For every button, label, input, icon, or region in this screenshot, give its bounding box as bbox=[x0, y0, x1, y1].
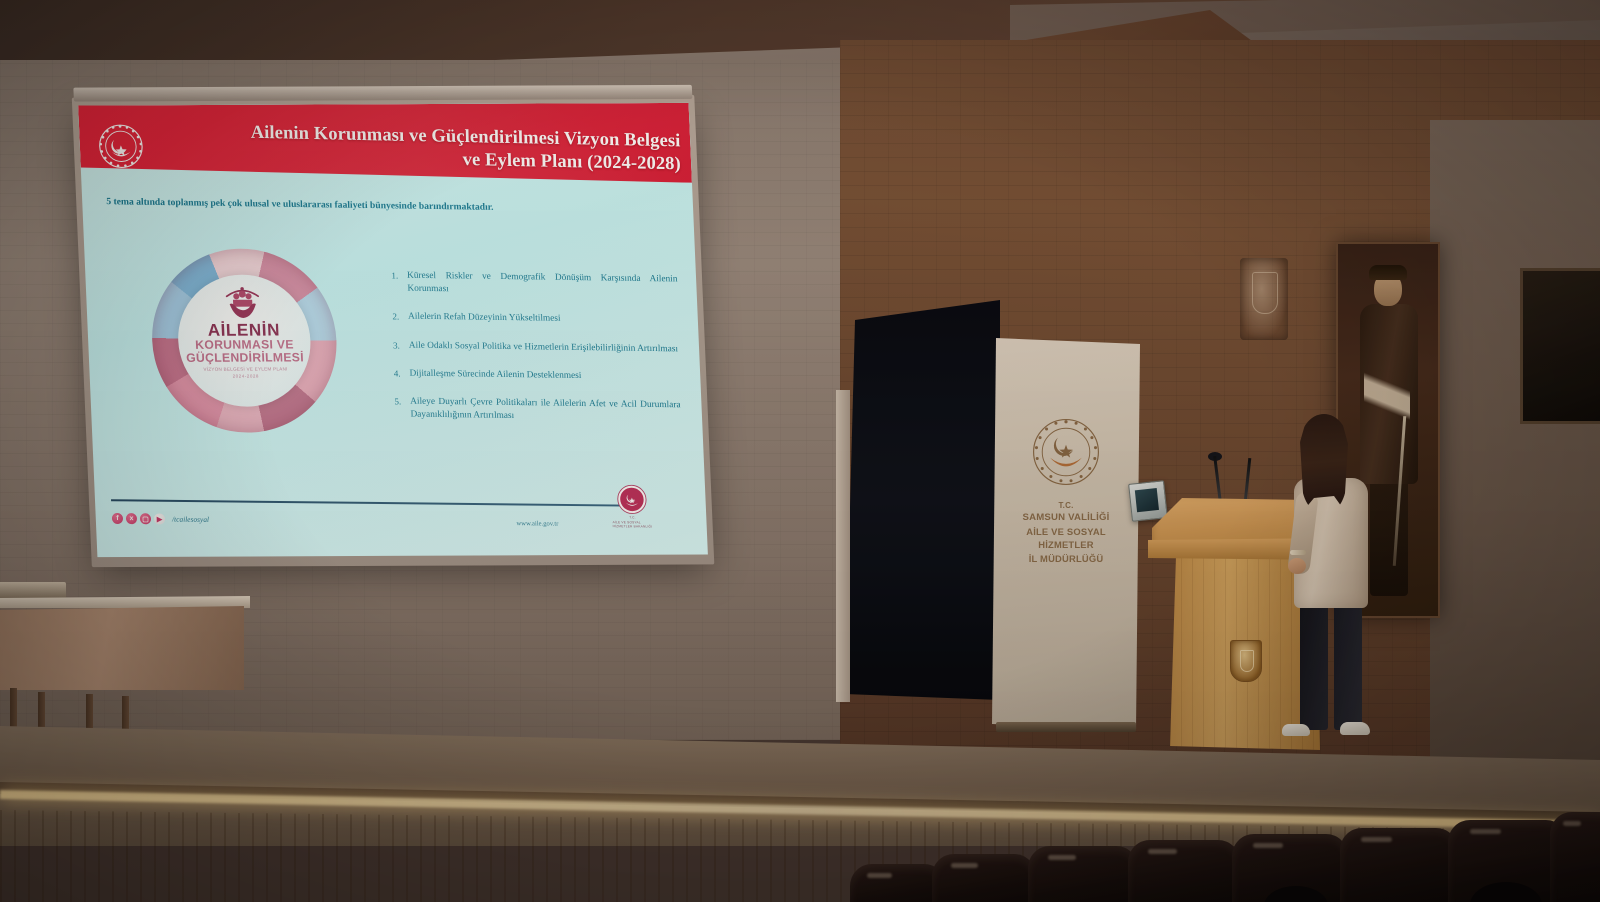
list-item-label: Dijitalleşme Sürecinde Ailenin Desteklen… bbox=[409, 367, 680, 384]
x-twitter-icon: x bbox=[126, 513, 137, 524]
logo-line-5: 2024-2028 bbox=[232, 373, 259, 378]
list-item: 1. Küresel Riskler ve Demografik Dönüşüm… bbox=[387, 269, 678, 299]
social-links: f x ▢ ▶ /tcailesosyal bbox=[112, 513, 209, 525]
list-item-number: 3. bbox=[389, 339, 400, 352]
turkish-state-emblem-icon bbox=[1030, 416, 1102, 488]
portrait-cap bbox=[1369, 265, 1407, 280]
far-right-wall bbox=[1430, 120, 1600, 760]
presenter-laptop bbox=[1128, 480, 1168, 522]
slide-subtitle: 5 tema altında toplanmış pek çok ulusal … bbox=[106, 196, 647, 216]
presenter-leg bbox=[1300, 600, 1328, 730]
stage-table bbox=[0, 596, 250, 748]
list-item-label: Ailelerin Refah Düzeyinin Yükseltilmesi bbox=[408, 311, 679, 328]
presenter bbox=[1282, 418, 1390, 750]
table-apron bbox=[0, 606, 244, 690]
family-hands-icon bbox=[220, 287, 265, 321]
list-item-label: Aileye Duyarlı Çevre Politikaları ile Ai… bbox=[410, 396, 681, 426]
audience-seat bbox=[1028, 846, 1138, 902]
wristwatch-icon bbox=[1290, 550, 1306, 555]
rollup-banner: T.C. SAMSUN VALİLİĞİ AİLE VE SOSYAL HİZM… bbox=[992, 338, 1140, 730]
list-item-number: 4. bbox=[389, 367, 400, 380]
presenter-legs bbox=[1298, 600, 1364, 730]
logo-line-3: GÜÇLENDİRİLMESİ bbox=[186, 351, 304, 364]
presenter-shoe bbox=[1340, 722, 1370, 735]
list-item-number: 1. bbox=[387, 269, 399, 296]
website-url: www.aile.gov.tr bbox=[516, 520, 558, 527]
dark-doorway bbox=[845, 300, 1000, 700]
screen-hanger-bar bbox=[73, 85, 692, 102]
footer-emblem-sub-1: T.C. bbox=[629, 515, 636, 519]
door-jamb bbox=[836, 390, 850, 702]
list-item: 3. Aile Odaklı Sosyal Politika ve Hizmet… bbox=[389, 339, 680, 356]
rollup-banner-text: T.C. SAMSUN VALİLİĞİ AİLE VE SOSYAL HİZM… bbox=[998, 500, 1134, 565]
audience-seat bbox=[1128, 840, 1240, 902]
ministry-of-family-emblem-icon bbox=[97, 123, 145, 169]
slide-footer: f x ▢ ▶ /tcailesosyal www.aile.gov.tr bbox=[112, 507, 674, 553]
rollup-line-3: İL MÜDÜRLÜĞÜ bbox=[998, 552, 1134, 565]
logo-line-4: VİZYON BELGESİ VE EYLEM PLANI bbox=[203, 366, 287, 372]
presentation-slide: Ailenin Korunması ve Güçlendirilmesi Viz… bbox=[78, 103, 708, 557]
list-item-number: 5. bbox=[390, 395, 402, 422]
list-item-number: 2. bbox=[388, 311, 399, 324]
list-item: 2. Ailelerin Refah Düzeyinin Yükseltilme… bbox=[388, 311, 679, 328]
audience-seating bbox=[860, 812, 1600, 902]
rollup-banner-base bbox=[996, 722, 1136, 732]
audience-seat bbox=[932, 854, 1036, 902]
projection-screen: Ailenin Korunması ve Güçlendirilmesi Viz… bbox=[78, 103, 708, 557]
social-handle: /tcailesosyal bbox=[172, 515, 209, 524]
wall-emblem-plaque bbox=[1240, 258, 1288, 340]
list-item-label: Küresel Riskler ve Demografik Dönüşüm Ka… bbox=[407, 270, 678, 300]
presenter-shoe bbox=[1282, 724, 1310, 736]
theme-list: 1. Küresel Riskler ve Demografik Dönüşüm… bbox=[387, 269, 681, 440]
list-item-label: Aile Odaklı Sosyal Politika ve Hizmetler… bbox=[409, 339, 680, 356]
footer-ministry-emblem: T.C. AİLE VE SOSYAL HİZMETLER BAKANLIĞI bbox=[611, 484, 652, 530]
presenter-leg bbox=[1334, 600, 1362, 730]
wall-frame bbox=[1520, 268, 1600, 424]
audience-seat bbox=[1340, 828, 1458, 902]
rollup-line-2: AİLE VE SOSYAL HİZMETLER bbox=[998, 525, 1134, 552]
presenter-hand bbox=[1288, 558, 1306, 574]
list-item: 4. Dijitalleşme Sürecinde Ailenin Destek… bbox=[389, 367, 680, 384]
footer-emblem-sub-2: AİLE VE SOSYAL HİZMETLER BAKANLIĞI bbox=[612, 520, 652, 528]
rollup-line-0: T.C. bbox=[998, 500, 1134, 511]
facebook-icon: f bbox=[112, 513, 123, 524]
footer-divider bbox=[111, 499, 638, 506]
presenter-hair bbox=[1300, 414, 1348, 510]
youtube-icon: ▶ bbox=[154, 513, 165, 524]
rollup-line-1: SAMSUN VALİLİĞİ bbox=[998, 511, 1134, 525]
instagram-icon: ▢ bbox=[140, 513, 151, 524]
samsun-provincial-crest-icon bbox=[1230, 640, 1262, 682]
logo-line-1: AİLENİN bbox=[207, 322, 280, 339]
presentation-room-photo: Ailenin Korunması ve Güçlendirilmesi Viz… bbox=[0, 0, 1600, 902]
table-top bbox=[0, 596, 250, 608]
campaign-logo: AİLENİN KORUNMASI VE GÜÇLENDİRİLMESİ VİZ… bbox=[148, 248, 340, 433]
slide-title: Ailenin Korunması ve Güçlendirilmesi Viz… bbox=[230, 121, 682, 177]
table-object bbox=[0, 582, 66, 598]
audience-seat bbox=[1550, 812, 1600, 902]
list-item: 5. Aileye Duyarlı Çevre Politikaları ile… bbox=[390, 395, 681, 425]
